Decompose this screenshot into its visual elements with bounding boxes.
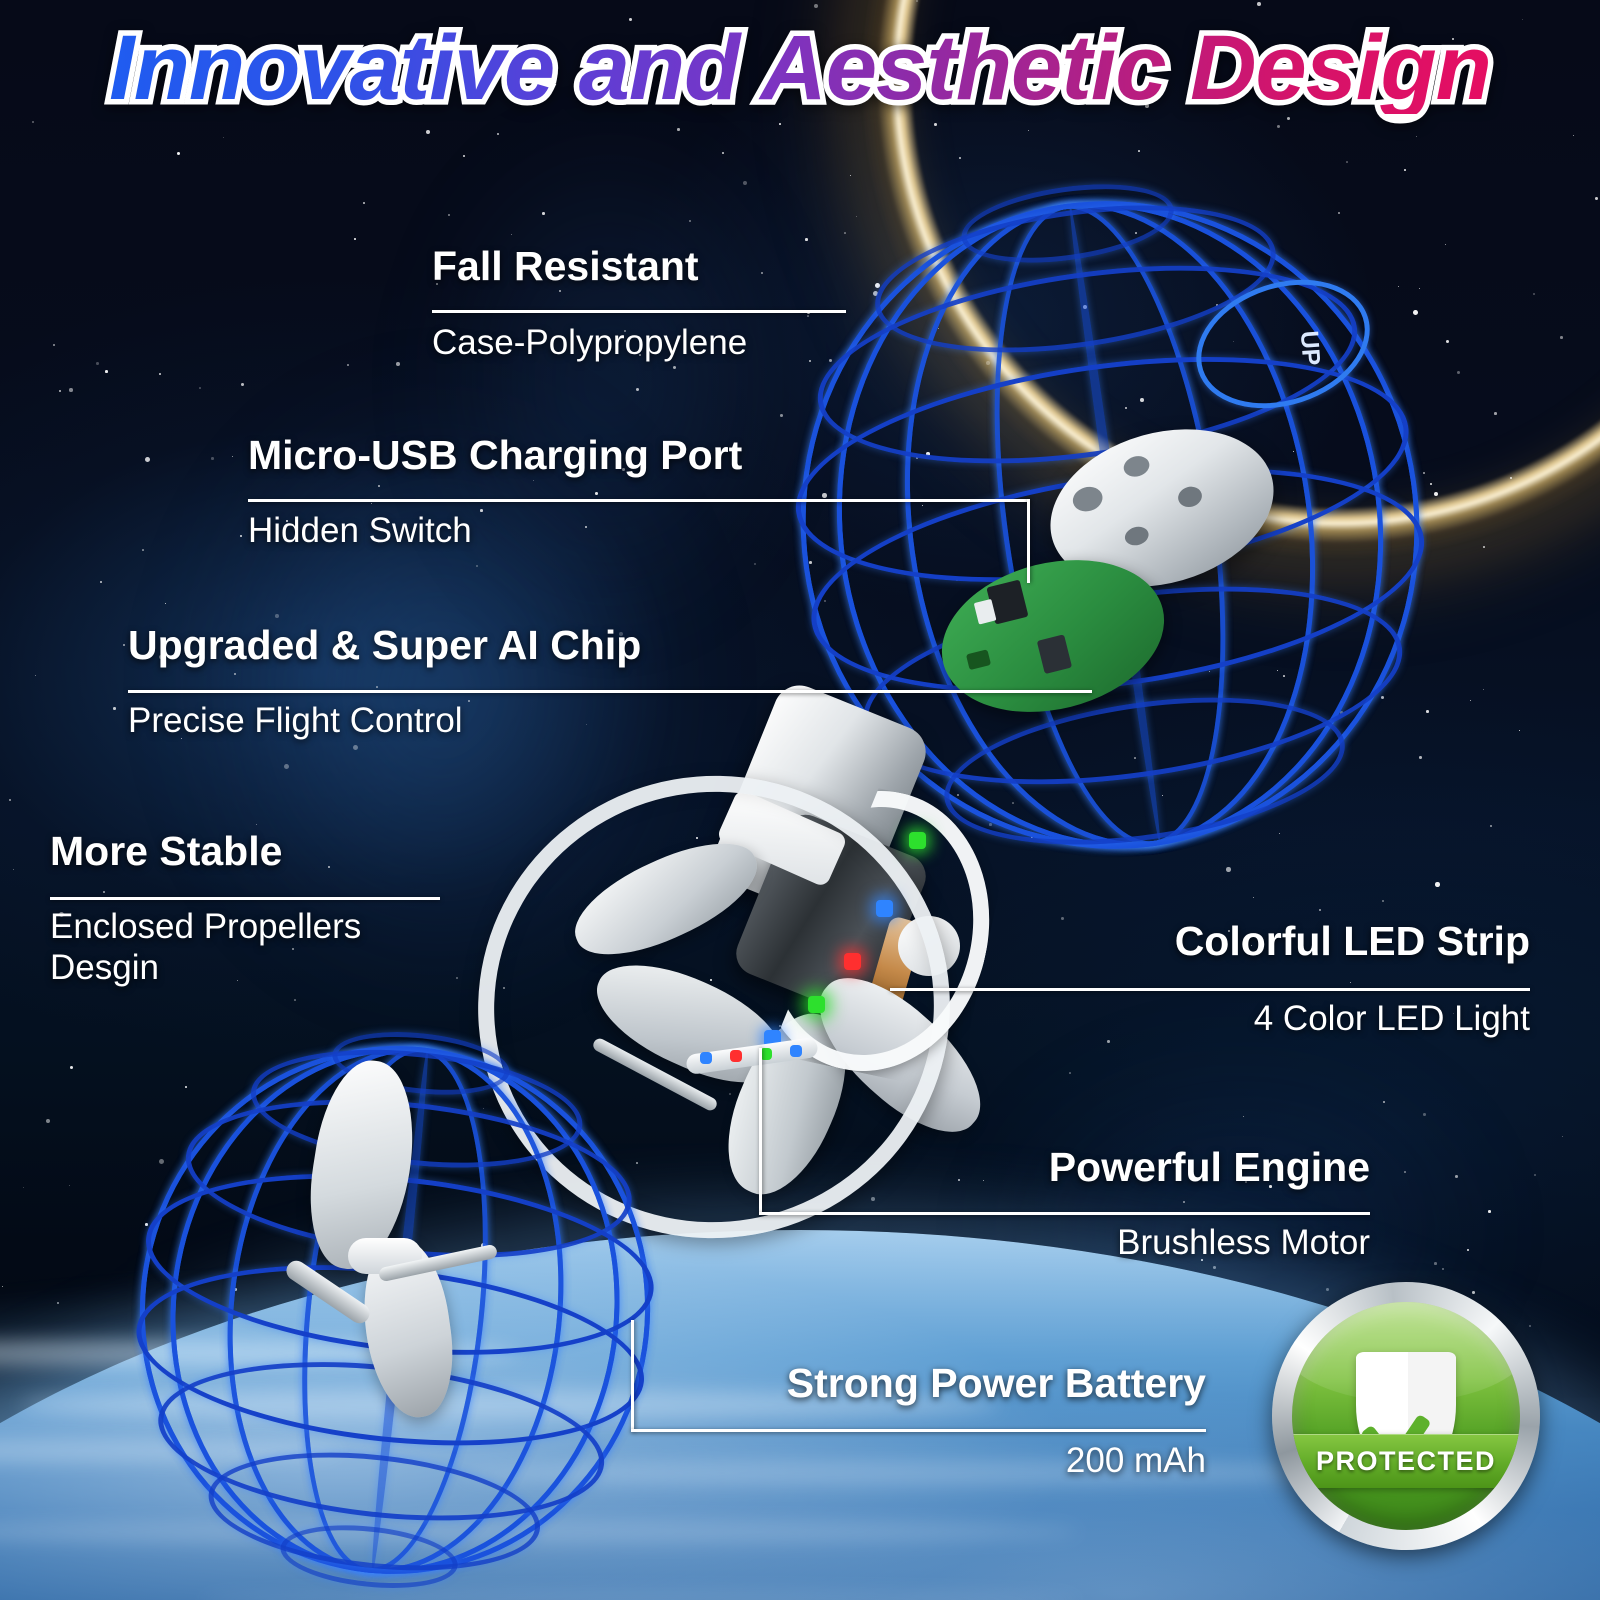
led-blue: [876, 900, 893, 917]
led-green: [909, 832, 926, 849]
callout-led-strip: Colorful LED Strip: [1175, 920, 1530, 963]
callout-subtitle: Enclosed Propellers Desgin: [50, 906, 400, 989]
leader-rule-battery: [631, 1429, 1206, 1432]
leader-rule-micro-usb: [248, 499, 1030, 502]
infographic-canvas: UP: [0, 0, 1600, 1600]
badge-green-face: PROTECTED: [1292, 1302, 1520, 1530]
callout-heading: Upgraded & Super AI Chip: [128, 624, 641, 667]
leader-rule-fall-resistant: [432, 310, 846, 313]
up-marker-icon: UP: [1289, 330, 1325, 366]
callout-subtitle: 200 mAh: [1066, 1440, 1206, 1481]
leader-rule-led-strip: [890, 988, 1530, 991]
callout-battery: Strong Power Battery: [787, 1362, 1206, 1405]
callout-subtitle: Precise Flight Control: [128, 700, 463, 741]
callout-heading: Colorful LED Strip: [1175, 920, 1530, 963]
page-title-text: Innovative and Aesthetic Design: [109, 22, 1491, 114]
leader-vline-battery: [631, 1320, 634, 1432]
callout-heading: Fall Resistant: [432, 245, 699, 288]
callout-ai-chip-sub: Precise Flight Control: [128, 700, 463, 741]
callout-subtitle: Case-Polypropylene: [432, 322, 747, 363]
callout-ai-chip: Upgraded & Super AI Chip: [128, 624, 641, 667]
callout-subtitle: Hidden Switch: [248, 510, 472, 551]
colorful-led-strip: [736, 790, 1056, 1080]
callout-more-stable-sub: Enclosed Propellers Desgin: [50, 906, 400, 989]
callout-subtitle: 4 Color LED Light: [1254, 998, 1530, 1039]
badge-label: PROTECTED: [1316, 1446, 1496, 1477]
badge-ribbon: PROTECTED: [1292, 1434, 1520, 1488]
page-title: Innovative and Aesthetic Design: [0, 22, 1600, 114]
callout-heading: Powerful Engine: [1049, 1146, 1370, 1189]
leader-rule-more-stable: [50, 897, 440, 900]
callout-led-strip-sub: 4 Color LED Light: [1254, 998, 1530, 1039]
leader-rule-ai-chip: [128, 690, 1092, 693]
callout-more-stable: More Stable: [50, 830, 282, 873]
protected-badge: PROTECTED: [1272, 1282, 1540, 1550]
callout-subtitle: Brushless Motor: [1117, 1222, 1370, 1263]
callout-micro-usb: Micro-USB Charging Port: [248, 434, 742, 477]
callout-fall-resistant: Fall Resistant: [432, 245, 699, 288]
callout-powerful-engine-sub: Brushless Motor: [1117, 1222, 1370, 1263]
leader-vline-engine: [759, 1048, 762, 1214]
led-green: [808, 996, 825, 1013]
lower-propeller-assembly: [270, 1060, 570, 1400]
leader-vline-micro-usb: [1027, 499, 1030, 583]
callout-heading: Micro-USB Charging Port: [248, 434, 742, 477]
callout-heading: More Stable: [50, 830, 282, 873]
callout-powerful-engine: Powerful Engine: [1049, 1146, 1370, 1189]
callout-battery-sub: 200 mAh: [1066, 1440, 1206, 1481]
leader-rule-engine: [759, 1212, 1370, 1215]
callout-micro-usb-sub: Hidden Switch: [248, 510, 472, 551]
led-strip-tail: [686, 1040, 826, 1080]
callout-heading: Strong Power Battery: [787, 1362, 1206, 1405]
callout-fall-resistant-sub: Case-Polypropylene: [432, 322, 747, 363]
led-red: [844, 953, 861, 970]
